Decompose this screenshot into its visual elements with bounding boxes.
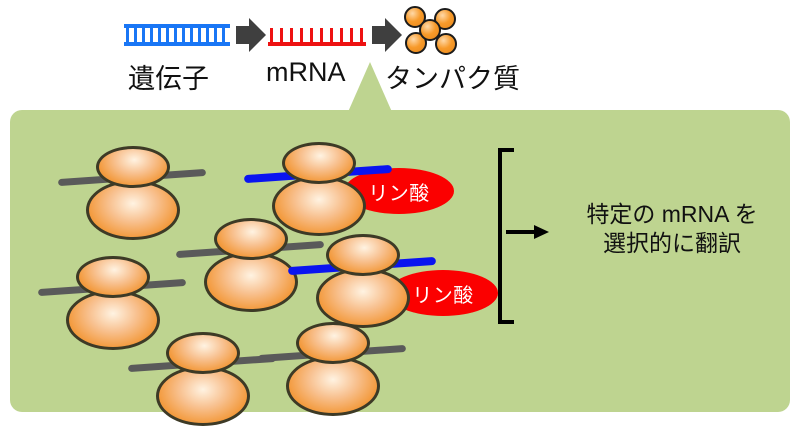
ribosome-large-subunit xyxy=(286,356,380,416)
ribosome-large-subunit xyxy=(156,366,250,426)
arrow-head xyxy=(534,225,549,239)
dna-rungs xyxy=(126,27,228,43)
mrna-strand-icon xyxy=(268,24,366,46)
conclusion-line-2: 選択的に翻訳 xyxy=(552,229,792,258)
gene-label: 遺伝子 xyxy=(128,57,209,96)
ribosome-inactive xyxy=(190,212,310,316)
result-arrow-icon xyxy=(506,225,550,239)
protein-subunit xyxy=(419,19,441,41)
dna-strand-bottom xyxy=(124,42,230,46)
ribosome-small-subunit xyxy=(214,218,288,260)
ribosome-inactive xyxy=(72,140,192,244)
protein-label: タンパク質 xyxy=(385,57,520,96)
translation-arrow-icon xyxy=(372,18,402,52)
transcription-arrow-icon xyxy=(236,18,266,52)
ribosome-inactive xyxy=(272,316,392,420)
central-dogma-pathway: 遺伝子 mRNA タンパク質 xyxy=(0,0,800,100)
protein-complex-icon xyxy=(404,6,460,56)
ribosome-small-subunit xyxy=(326,234,400,276)
ribosome-small-subunit xyxy=(282,142,356,184)
ribosome-small-subunit xyxy=(76,256,150,298)
ribosome-large-subunit xyxy=(204,252,298,312)
ribosome-small-subunit xyxy=(296,322,370,364)
mrna-label: mRNA xyxy=(266,57,346,88)
conclusion-text: 特定の mRNA を 選択的に翻訳 xyxy=(552,200,792,259)
arrow-head xyxy=(249,18,266,52)
ribosome-large-subunit xyxy=(86,180,180,240)
mrna-backbone xyxy=(268,42,366,46)
ribosome-small-subunit xyxy=(166,332,240,374)
dna-ladder-icon xyxy=(124,24,230,46)
ribosome-small-subunit xyxy=(96,146,170,188)
mrna-ticks xyxy=(270,28,364,43)
ribosome-inactive xyxy=(142,326,262,430)
diagram-canvas: 遺伝子 mRNA タンパク質 リン酸リン酸 特定の mRNA を 選択的に翻訳 xyxy=(0,0,800,421)
arrow-line xyxy=(506,230,536,234)
arrow-head xyxy=(385,18,402,52)
conclusion-line-1: 特定の mRNA を xyxy=(552,200,792,229)
